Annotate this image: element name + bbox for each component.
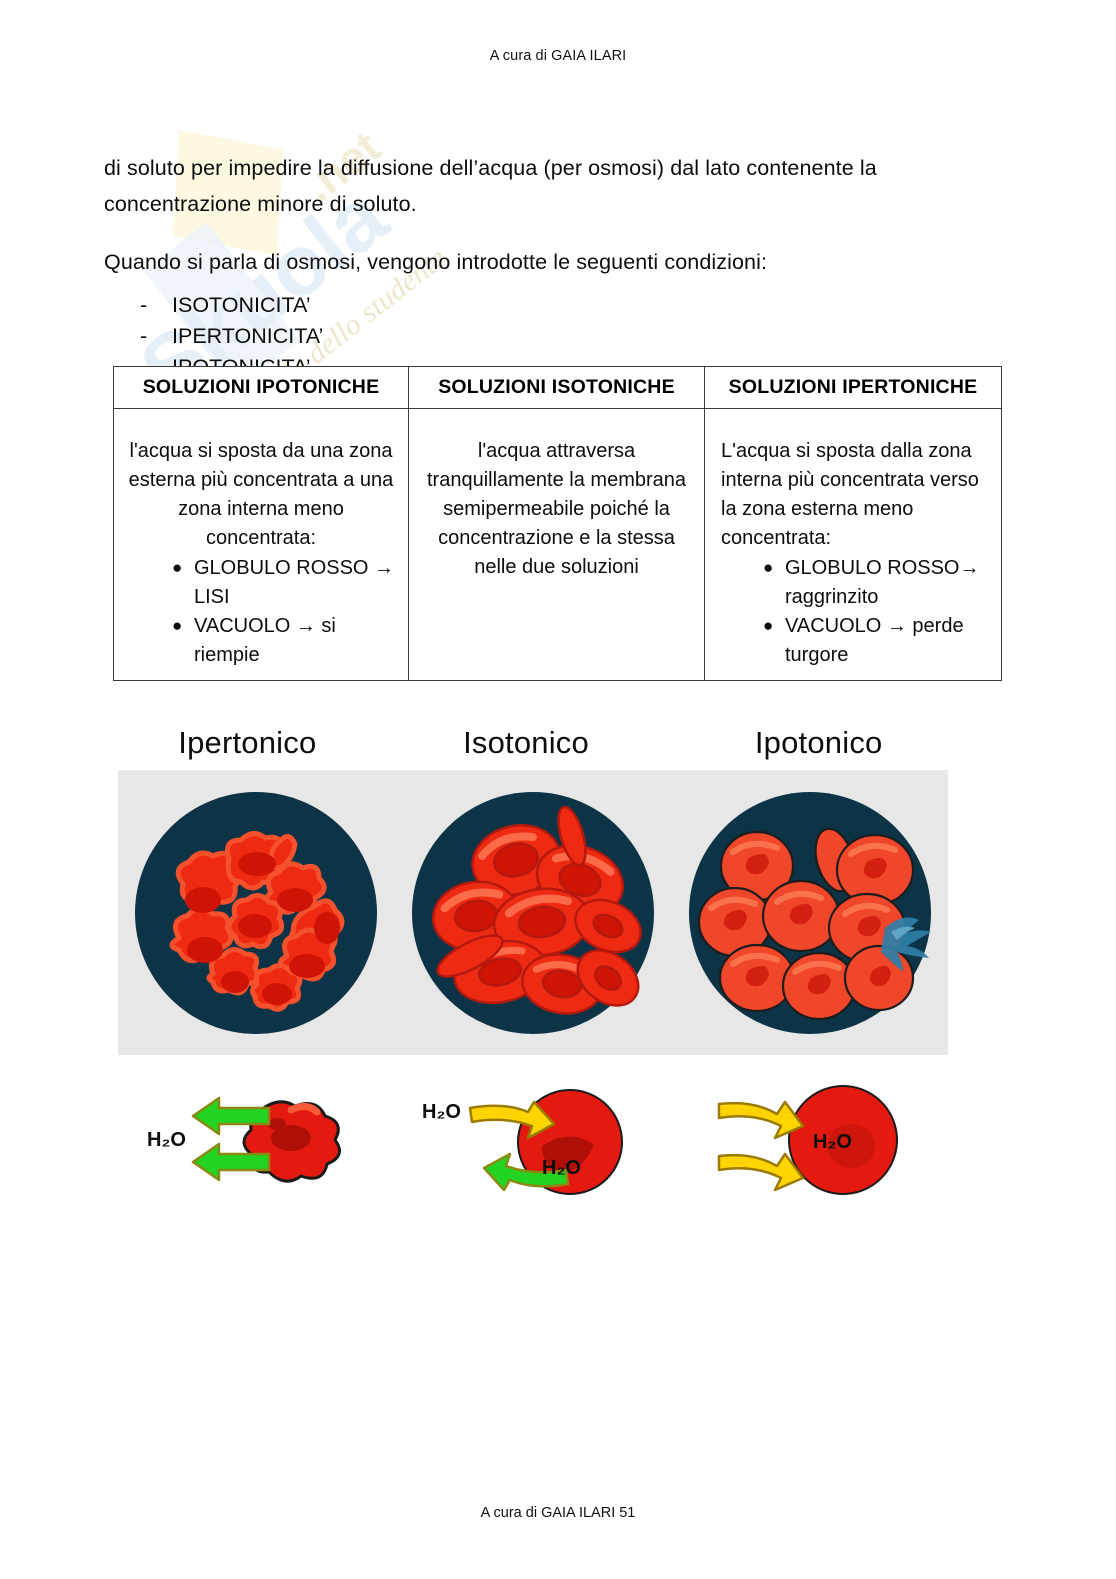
isotonic-cells-illustration [408, 788, 658, 1038]
dash-marker: - [140, 321, 147, 352]
column-header-isotoniche: SOLUZIONI ISOTONICHE [409, 367, 705, 409]
microscope-panel [118, 770, 948, 1055]
water-flow-row: H₂O H₂O [118, 1071, 948, 1206]
list-item-label: GLOBULO ROSSO→ raggrinzito [785, 557, 980, 608]
solutions-table-wrapper: SOLUZIONI IPOTONICHE SOLUZIONI ISOTONICH… [113, 366, 1001, 681]
list-item: ● GLOBULO ROSSO → LISI [172, 554, 396, 612]
bullet-dot-icon: ● [172, 611, 182, 640]
list-item: ● VACUOLO → si riempie [172, 612, 396, 670]
list-item-label: IPERTONICITA’ [172, 324, 323, 348]
isotonic-flow-diagram: H₂O H₂O [395, 1076, 672, 1201]
cell-lead-text: l'acqua attraversa tranquillamente la me… [421, 437, 692, 582]
figure-label-ipertonico: Ipertonico [118, 726, 397, 760]
table-header-row: SOLUZIONI IPOTONICHE SOLUZIONI ISOTONICH… [114, 367, 1002, 409]
column-header-ipotoniche: SOLUZIONI IPOTONICHE [114, 367, 409, 409]
page-footer: A cura di GAIA ILARI 51 [0, 1505, 1116, 1521]
figure-label-ipotonico: Ipotonico [665, 726, 948, 760]
water-label-hypertonic: H₂O [147, 1129, 186, 1151]
bullet-dot-icon: ● [763, 553, 773, 582]
list-item-label: VACUOLO → si riempie [194, 615, 336, 666]
hypertonic-cells-illustration [131, 788, 381, 1038]
table-cell-ipotoniche: l'acqua si sposta da una zona esterna pi… [114, 409, 409, 681]
water-label-isotonic-out: H₂O [542, 1157, 581, 1179]
hypotonic-cells-illustration [685, 788, 935, 1038]
list-item-label: VACUOLO → perde turgore [785, 615, 964, 666]
paragraph-2: Quando si parla di osmosi, vengono intro… [104, 244, 1012, 280]
cell-lead-text: L'acqua si sposta dalla zona interna più… [717, 437, 989, 553]
list-item-label: GLOBULO ROSSO → LISI [194, 557, 394, 608]
dash-marker: - [140, 290, 147, 321]
solutions-table: SOLUZIONI IPOTONICHE SOLUZIONI ISOTONICH… [113, 366, 1002, 681]
hypotonic-flow-diagram: H₂O [671, 1076, 948, 1201]
paragraph-1: di soluto per impedire la diffusione del… [104, 150, 1012, 222]
list-item: ● VACUOLO → perde turgore [763, 612, 989, 670]
list-item: - ISOTONICITA’ [104, 290, 1012, 321]
column-header-ipertoniche: SOLUZIONI IPERTONICHE [705, 367, 1002, 409]
water-label-hypotonic: H₂O [813, 1131, 852, 1153]
page-header: A cura di GAIA ILARI [0, 48, 1116, 64]
list-item-label: ISOTONICITA’ [172, 293, 311, 317]
table-cell-ipertoniche: L'acqua si sposta dalla zona interna più… [705, 409, 1002, 681]
figure-label-row: Ipertonico Isotonico Ipotonico [118, 712, 948, 760]
osmosis-figure: Ipertonico Isotonico Ipotonico [118, 712, 948, 1206]
table-row: l'acqua si sposta da una zona esterna pi… [114, 409, 1002, 681]
bullet-dot-icon: ● [172, 553, 182, 582]
cell-bullet-list: ● GLOBULO ROSSO→ raggrinzito ● VACUOLO →… [717, 554, 989, 670]
cell-bullet-list: ● GLOBULO ROSSO → LISI ● VACUOLO → si ri… [126, 554, 396, 670]
figure-label-isotonico: Isotonico [397, 726, 666, 760]
list-item: - IPERTONICITA’ [104, 321, 1012, 352]
hypertonic-flow-diagram: H₂O [118, 1076, 395, 1201]
table-cell-isotoniche: l'acqua attraversa tranquillamente la me… [409, 409, 705, 681]
list-item: ● GLOBULO ROSSO→ raggrinzito [763, 554, 989, 612]
cell-lead-text: l'acqua si sposta da una zona esterna pi… [126, 437, 396, 553]
bullet-dot-icon: ● [763, 611, 773, 640]
document-body: di soluto per impedire la diffusione del… [104, 128, 1012, 383]
water-label-isotonic-in: H₂O [422, 1101, 461, 1123]
